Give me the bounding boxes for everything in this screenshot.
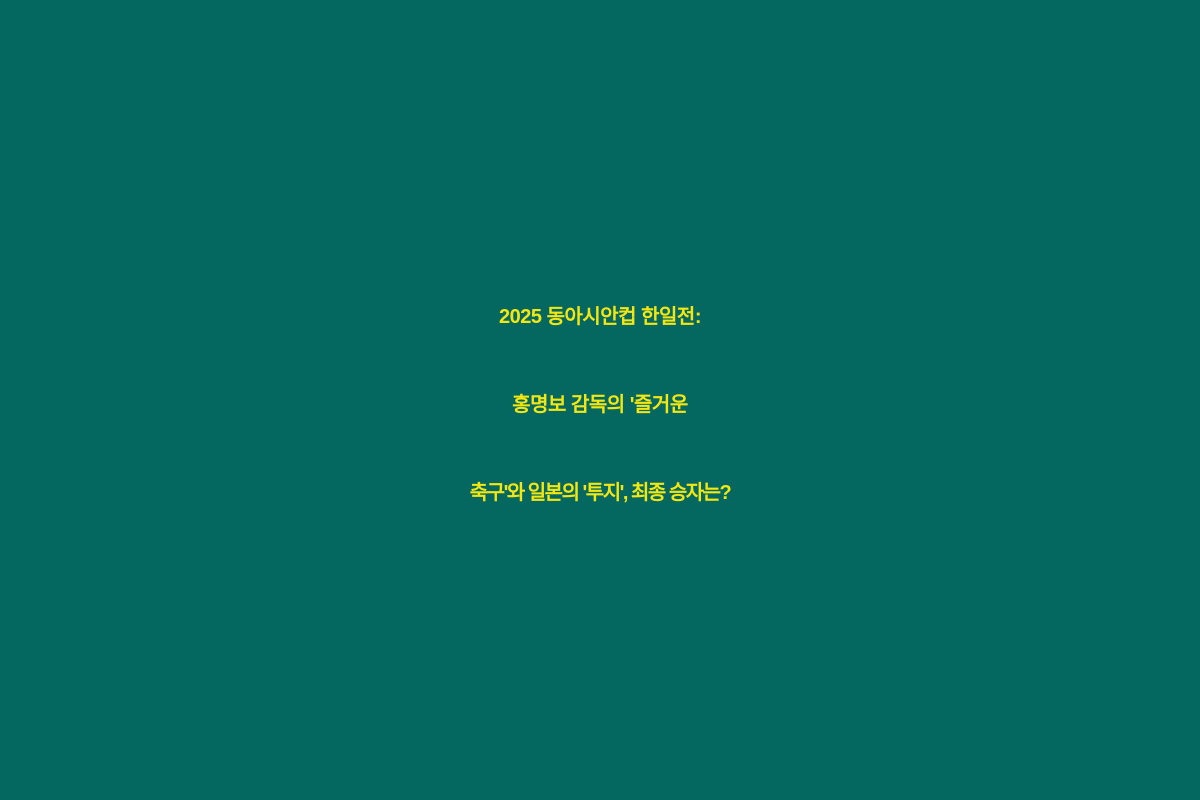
thumbnail-card: 2025 동아시안컵 한일전: 홍명보 감독의 '즐거운 축구'와 일본의 '투… bbox=[0, 0, 1200, 800]
headline-line-2: 홍명보 감독의 '즐거운 bbox=[0, 361, 1200, 449]
headline-line-1: 2025 동아시안컵 한일전: bbox=[0, 273, 1200, 361]
headline-line-3: 축구'와 일본의 '투지', 최종 승자는? bbox=[0, 449, 1200, 537]
headline-block: 2025 동아시안컵 한일전: 홍명보 감독의 '즐거운 축구'와 일본의 '투… bbox=[0, 273, 1200, 537]
